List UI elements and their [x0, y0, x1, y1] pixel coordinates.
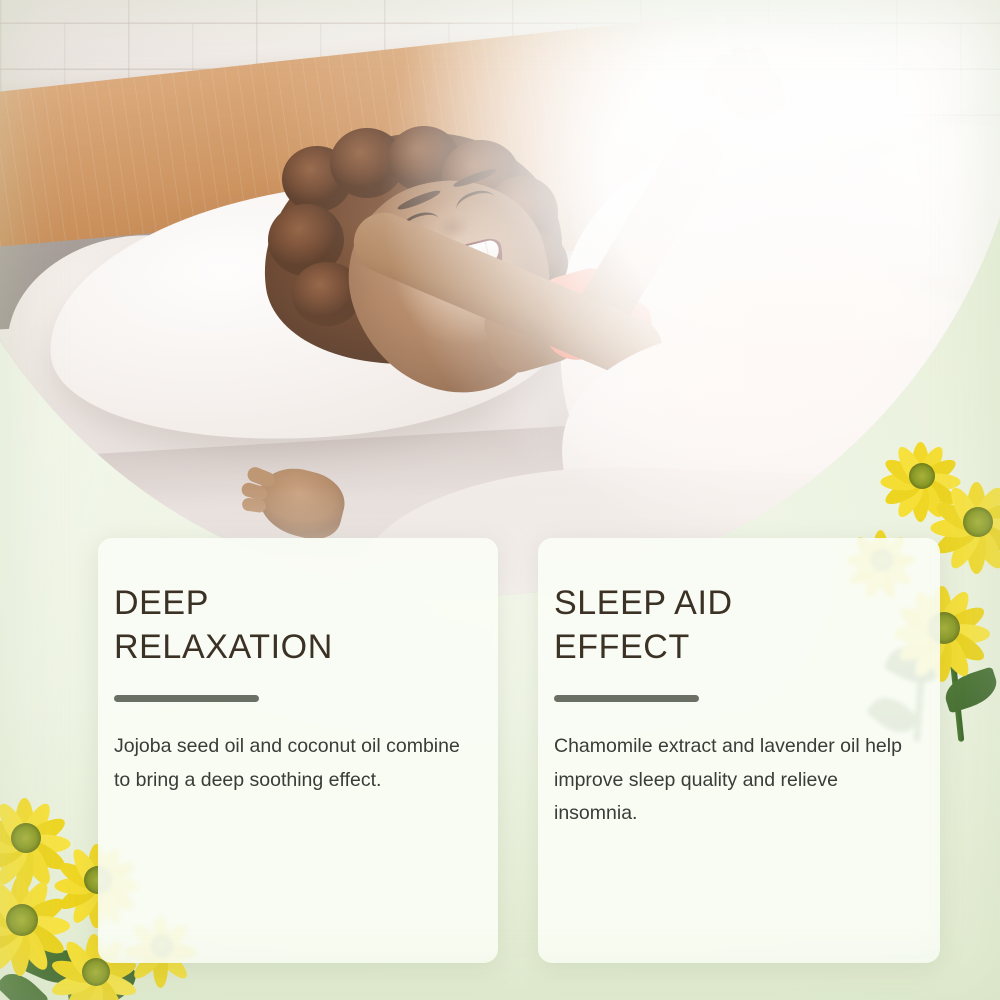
feature-card-sleep-aid-effect[interactable]: SLEEP AID EFFECT Chamomile extract and l…	[538, 538, 940, 963]
card-title: DEEP RELAXATION	[114, 582, 468, 669]
flower-leaf	[940, 666, 1000, 713]
card-divider-rule	[114, 695, 259, 702]
card-body-text: Jojoba seed oil and coconut oil combine …	[114, 730, 468, 797]
flower-center	[963, 507, 993, 537]
flower-center	[909, 463, 935, 489]
card-content: DEEP RELAXATION Jojoba seed oil and coco…	[98, 538, 498, 963]
flower-center	[11, 823, 41, 853]
feature-card-deep-relaxation[interactable]: DEEP RELAXATION Jojoba seed oil and coco…	[98, 538, 498, 963]
card-divider-rule	[554, 695, 699, 702]
card-title: SLEEP AID EFFECT	[554, 582, 910, 669]
card-body-text: Chamomile extract and lavender oil help …	[554, 730, 910, 831]
card-content: SLEEP AID EFFECT Chamomile extract and l…	[538, 538, 940, 963]
flower-center	[6, 904, 38, 936]
poster-root: DEEP RELAXATION Jojoba seed oil and coco…	[0, 0, 1000, 1000]
